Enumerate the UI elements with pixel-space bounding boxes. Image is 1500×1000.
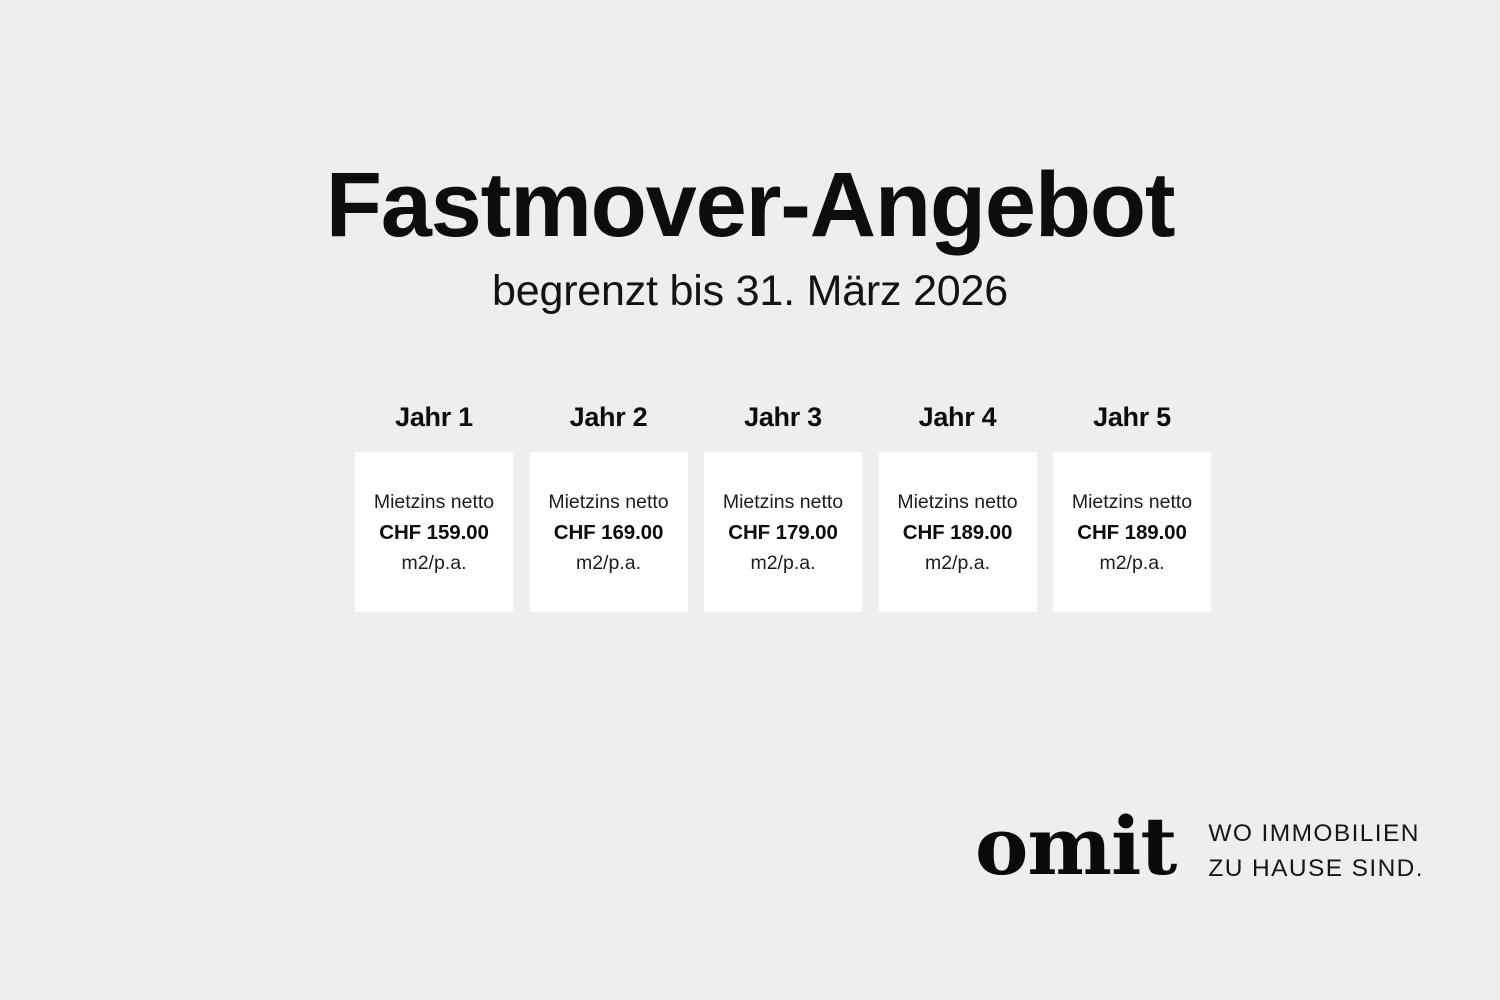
price-caption: Mietzins netto xyxy=(723,487,843,517)
logo-tagline: Wo Immobilien zu Hause sind. xyxy=(1208,810,1424,886)
price-caption: Mietzins netto xyxy=(548,487,668,517)
price-caption: Mietzins netto xyxy=(1072,487,1192,517)
offer-table: Jahr 1 Mietzins netto CHF 159.00 m2/p.a.… xyxy=(355,398,1211,612)
year-label: Jahr 4 xyxy=(879,398,1037,452)
offer-column: Jahr 5 Mietzins netto CHF 189.00 m2/p.a. xyxy=(1053,398,1211,612)
logo-wordmark: omit xyxy=(975,806,1176,890)
year-label: Jahr 3 xyxy=(704,398,862,452)
offer-column: Jahr 3 Mietzins netto CHF 179.00 m2/p.a. xyxy=(704,398,862,612)
price-amount: CHF 159.00 xyxy=(379,517,489,548)
header-block: Fastmover-Angebot begrenzt bis 31. März … xyxy=(0,158,1500,314)
price-card: Mietzins netto CHF 169.00 m2/p.a. xyxy=(530,452,688,612)
price-card: Mietzins netto CHF 189.00 m2/p.a. xyxy=(1053,452,1211,612)
offer-poster: Fastmover-Angebot begrenzt bis 31. März … xyxy=(0,0,1500,1000)
page-subtitle: begrenzt bis 31. März 2026 xyxy=(0,268,1500,314)
price-amount: CHF 179.00 xyxy=(728,517,838,548)
price-amount: CHF 189.00 xyxy=(1077,517,1187,548)
page-title: Fastmover-Angebot xyxy=(0,158,1500,254)
offer-column: Jahr 1 Mietzins netto CHF 159.00 m2/p.a. xyxy=(355,398,513,612)
logo-tagline-line-2: zu Hause sind. xyxy=(1208,851,1424,886)
price-caption: Mietzins netto xyxy=(374,487,494,517)
brand-logo: omit Wo Immobilien zu Hause sind. xyxy=(975,806,1424,890)
price-unit: m2/p.a. xyxy=(750,548,815,578)
price-caption: Mietzins netto xyxy=(897,487,1017,517)
price-unit: m2/p.a. xyxy=(1099,548,1164,578)
year-label: Jahr 5 xyxy=(1053,398,1211,452)
offer-column: Jahr 4 Mietzins netto CHF 189.00 m2/p.a. xyxy=(879,398,1037,612)
price-amount: CHF 169.00 xyxy=(554,517,664,548)
price-card: Mietzins netto CHF 159.00 m2/p.a. xyxy=(355,452,513,612)
price-unit: m2/p.a. xyxy=(576,548,641,578)
price-card: Mietzins netto CHF 179.00 m2/p.a. xyxy=(704,452,862,612)
year-label: Jahr 1 xyxy=(355,398,513,452)
price-unit: m2/p.a. xyxy=(401,548,466,578)
price-card: Mietzins netto CHF 189.00 m2/p.a. xyxy=(879,452,1037,612)
offer-column: Jahr 2 Mietzins netto CHF 169.00 m2/p.a. xyxy=(530,398,688,612)
price-amount: CHF 189.00 xyxy=(903,517,1013,548)
logo-tagline-line-1: Wo Immobilien xyxy=(1208,816,1424,851)
year-label: Jahr 2 xyxy=(530,398,688,452)
price-unit: m2/p.a. xyxy=(925,548,990,578)
